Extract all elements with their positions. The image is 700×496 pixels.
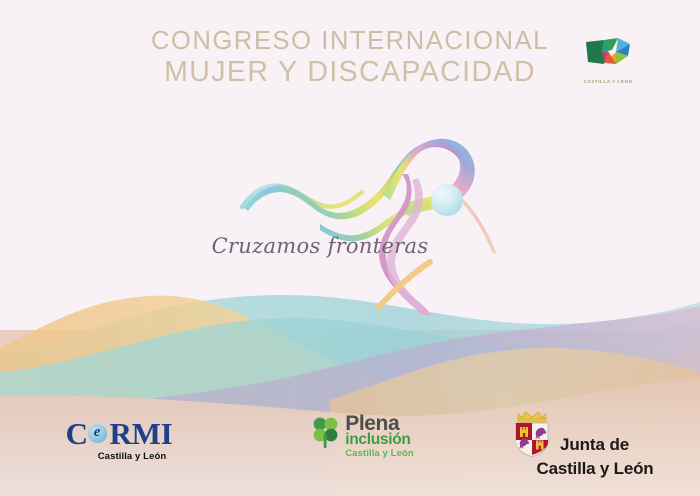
logo-cermi[interactable]: C e RMI Castilla y León [44,404,194,480]
logo-plena-inclusion[interactable]: Plena inclusión Castilla y León [288,404,438,475]
cermi-letters-rmi: RMI [110,418,173,449]
title-line-2: MUJER Y DISCAPACIDAD [151,58,549,88]
plena-line-3: Castilla y León [345,449,414,459]
page-title: CONGRESO INTERNACIONAL MUJER Y DISCAPACI… [151,28,549,88]
junta-line-1: Junta de [560,436,629,458]
footer-logos: C e RMI Castilla y León [0,404,700,496]
tagline: Cruzamos fronteras [205,234,435,258]
cermi-circle-e: e [88,424,107,443]
junta-pinwheel-mark: CASTILLA Y LEÓN [570,32,646,84]
pinwheel-icon [578,32,638,72]
plena-line-2: inclusión [345,432,414,448]
title-line-1: CONGRESO INTERNACIONAL [151,28,549,55]
cermi-e-glyph: e [94,425,101,440]
cermi-subtitle: Castilla y León [44,451,194,462]
logo-junta-castilla-y-leon[interactable]: Junta de Castilla y León [510,404,680,474]
junta-line-2: Castilla y León [510,460,680,477]
cermi-letter-c: C [66,418,88,449]
coat-of-arms-icon [510,408,554,458]
pinwheel-caption: CASTILLA Y LEÓN [570,79,646,84]
figure-head [431,184,463,216]
poster-canvas: CONGRESO INTERNACIONAL MUJER Y DISCAPACI… [0,0,700,496]
clover-icon [312,416,340,450]
ribbon-figure-logo [232,112,532,317]
